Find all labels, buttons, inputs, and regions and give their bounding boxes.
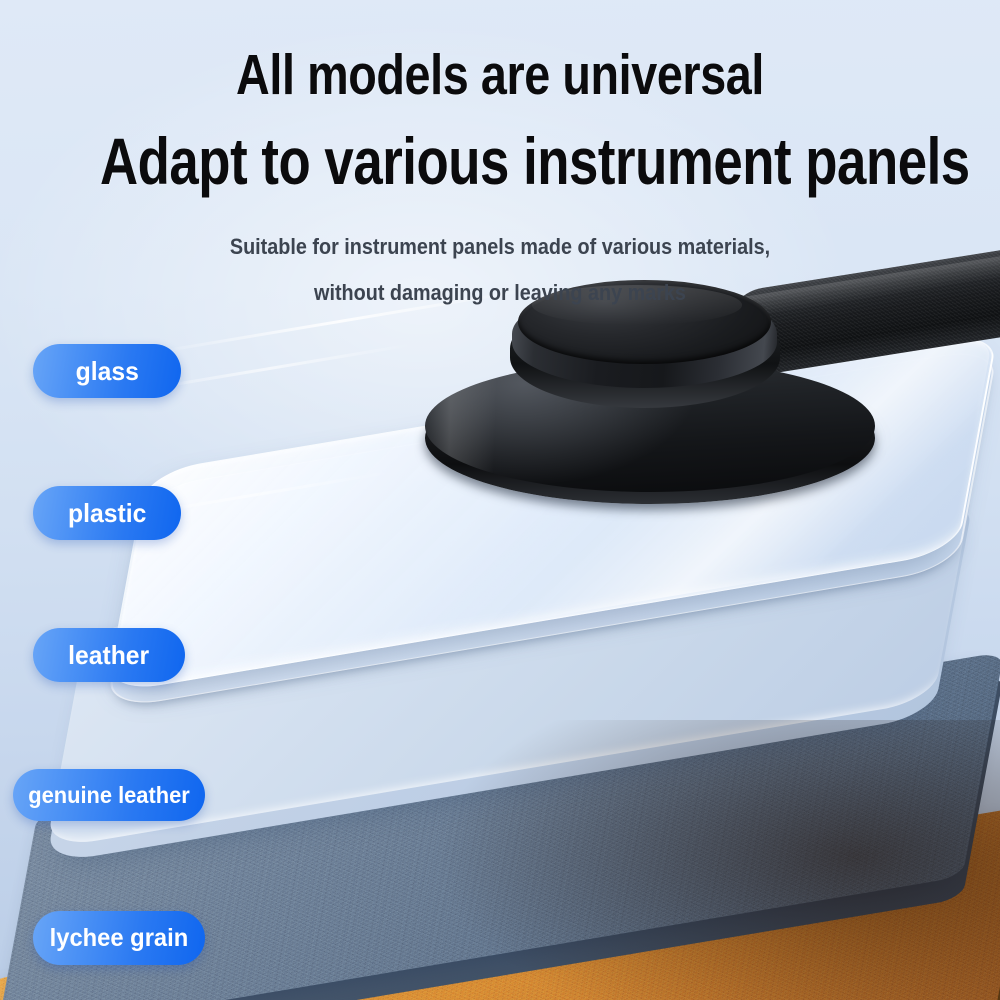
material-pill-plastic-label: plastic bbox=[68, 498, 146, 529]
headline-line-1: All models are universal bbox=[90, 47, 910, 104]
material-pill-leather[interactable]: leather bbox=[33, 628, 185, 682]
material-pill-lychee-grain-label: lychee grain bbox=[50, 924, 189, 953]
material-pill-glass-label: glass bbox=[75, 356, 138, 387]
material-pill-glass[interactable]: glass bbox=[33, 344, 181, 398]
material-pill-genuine-leather[interactable]: genuine leather bbox=[13, 769, 205, 821]
material-pill-genuine-leather-label: genuine leather bbox=[28, 782, 189, 809]
material-pill-leather-label: leather bbox=[68, 640, 149, 671]
product-magnetic-mount bbox=[410, 280, 1000, 510]
material-pill-lychee-grain[interactable]: lychee grain bbox=[33, 911, 205, 965]
subtitle-line-1: Suitable for instrument panels made of v… bbox=[50, 234, 950, 260]
subtitle-line-2: without damaging or leaving any marks bbox=[50, 280, 950, 306]
material-pill-plastic[interactable]: plastic bbox=[33, 486, 181, 540]
headline-block: All models are universal Adapt to variou… bbox=[0, 0, 1000, 306]
headline-line-2: Adapt to various instrument panels bbox=[100, 128, 900, 194]
promo-banner: All models are universal Adapt to variou… bbox=[0, 0, 1000, 1000]
